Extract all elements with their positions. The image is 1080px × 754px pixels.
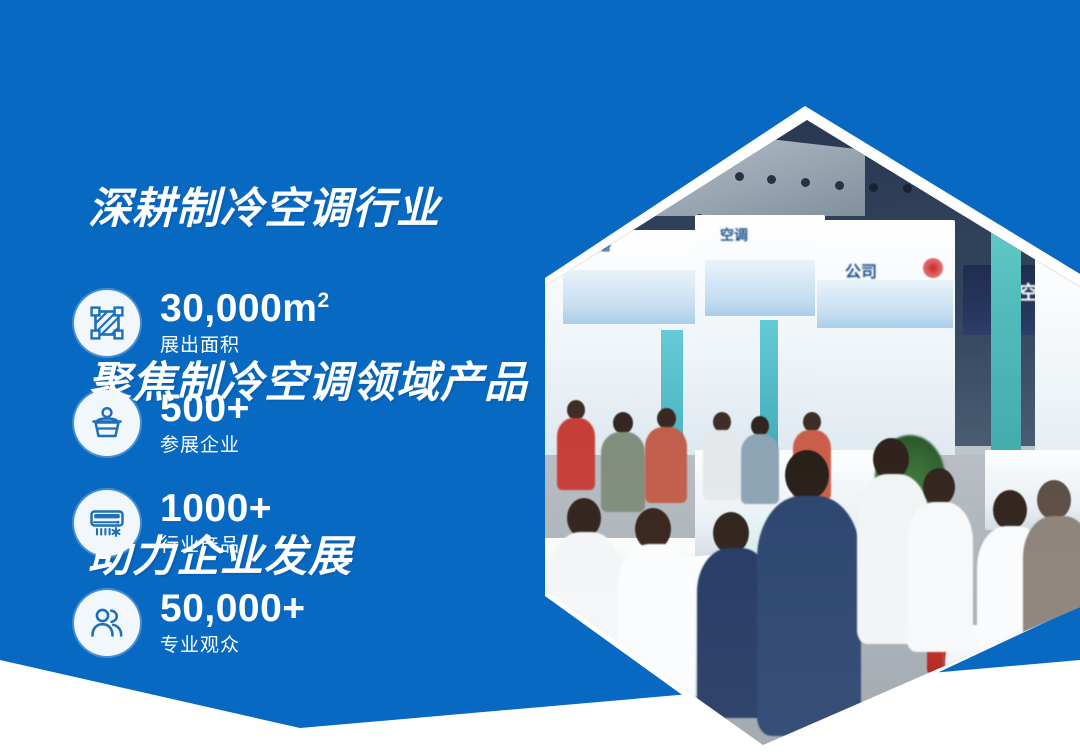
photo-person-body (557, 418, 595, 490)
photo-person-head (751, 416, 769, 436)
photo-person-head (785, 450, 829, 500)
photo-ceiling-light (869, 183, 878, 192)
photo-person-body (645, 427, 687, 503)
photo-person-head (613, 412, 633, 434)
stat-value-exhibition-area: 30,000m2 (160, 288, 330, 330)
photo-logo-mark (923, 258, 943, 278)
photo-person-head (803, 412, 821, 432)
photo-ceiling-light (903, 184, 912, 193)
photo-ceiling-light (835, 181, 844, 190)
stat-text-visitors: 50,000+ 专业观众 (160, 588, 306, 659)
photo-person-head (993, 490, 1027, 530)
audience-people-icon (74, 590, 140, 656)
stat-item-products: 1000+ 行业产品 (74, 484, 330, 562)
photo-person-body (703, 430, 741, 500)
exhibition-booth-icon (74, 390, 140, 456)
photo-person-head (1037, 480, 1071, 520)
photo-person-body (907, 502, 973, 652)
stat-item-exhibitors: 500+ 参展企业 (74, 384, 330, 462)
stat-value-exhibitors: 500+ (160, 388, 250, 430)
stat-item-visitors: 50,000+ 专业观众 (74, 584, 330, 662)
photo-person-body (741, 434, 779, 504)
stat-text-exhibition-area: 30,000m2 展出面积 (160, 288, 330, 359)
air-conditioner-icon (74, 490, 140, 556)
photo-person-body (757, 496, 861, 736)
stat-value-number: 500+ (160, 387, 250, 430)
stat-label-exhibition-area: 展出面积 (160, 333, 330, 359)
photo-pillar-teal (991, 220, 1021, 480)
photo-person-head (567, 400, 585, 420)
photo-person-head (923, 468, 955, 506)
photo-booth-center-band (817, 280, 953, 328)
stat-text-products: 1000+ 行业产品 (160, 488, 272, 559)
stat-value-number: 1000+ (160, 487, 272, 530)
stat-label-exhibitors: 参展企业 (160, 433, 250, 459)
stat-label-products: 行业产品 (160, 533, 272, 559)
area-measure-icon (74, 290, 140, 356)
photo-ceiling-light (735, 172, 744, 181)
stat-value-products: 1000+ (160, 488, 272, 530)
stat-text-exhibitors: 500+ 参展企业 (160, 388, 250, 459)
photo-person-body (601, 432, 645, 512)
photo-ceiling-light (801, 178, 810, 187)
photo-person-head (713, 412, 731, 432)
promo-banner: 深耕制冷空调行业 聚焦制冷空调领域产品 助力企业发展 (0, 0, 1080, 754)
photo-ceiling-light (767, 175, 776, 184)
photo-booth-sign-center: 空调 (720, 225, 748, 245)
photo-booth-panel-blue-2 (705, 260, 815, 316)
headline-line-1: 深耕制冷空调行业 (88, 180, 528, 238)
stat-value-visitors: 50,000+ (160, 588, 306, 630)
photo-person-head (657, 408, 676, 429)
photo-booth-panel-blue (563, 270, 695, 324)
stat-value-number: 30,000m (160, 287, 317, 330)
stat-value-number: 50,000+ (160, 587, 306, 630)
stats-list: 30,000m2 展出面积 500+ 参展企业 (74, 284, 330, 662)
photo-booth-sign-company: 公司 (845, 258, 877, 282)
stat-value-superscript: 2 (317, 289, 329, 312)
stat-item-exhibition-area: 30,000m2 展出面积 (74, 284, 330, 362)
stat-label-visitors: 专业观众 (160, 633, 306, 659)
